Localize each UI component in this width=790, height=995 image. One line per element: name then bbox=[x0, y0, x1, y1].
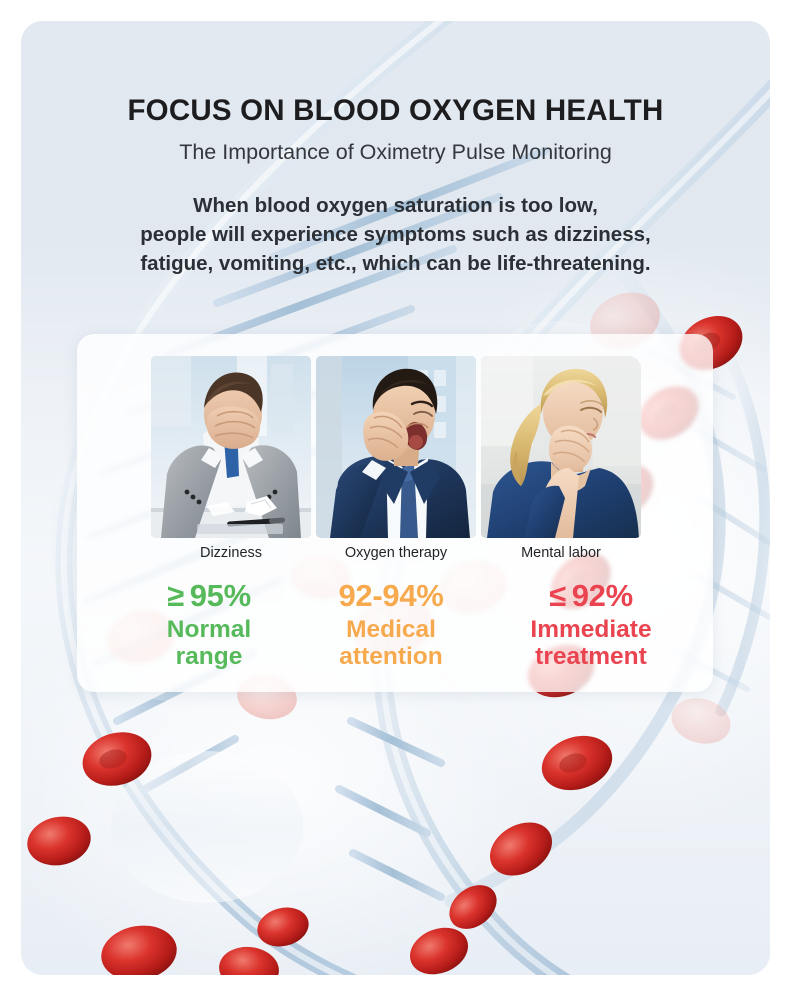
stat-normal-label-line2: range bbox=[115, 643, 303, 670]
poster-panel: FOCUS ON BLOOD OXYGEN HEALTH The Importa… bbox=[21, 21, 770, 975]
page-title: FOCUS ON BLOOD OXYGEN HEALTH bbox=[21, 94, 770, 127]
stat-normal-value: ≥ 95% bbox=[115, 579, 303, 614]
lead-paragraph: When blood oxygen saturation is too low,… bbox=[21, 191, 770, 278]
stat-normal-label-line1: Normal bbox=[115, 616, 303, 643]
stat-medical-label-line2: attention bbox=[297, 643, 485, 670]
stat-medical-label-line1: Medical bbox=[297, 616, 485, 643]
stat-immediate-value: ≤ 92% bbox=[497, 579, 685, 614]
photo-dizziness bbox=[151, 356, 311, 538]
caption-oxygen-therapy: Oxygen therapy bbox=[316, 544, 476, 563]
stat-immediate-label-line1: Immediate bbox=[497, 616, 685, 643]
info-card: Dizziness Oxygen therapy Mental labor ≥ … bbox=[77, 334, 713, 692]
woman-hand-to-mouth-photo bbox=[481, 356, 641, 538]
stat-normal-range: ≥ 95% Normal range bbox=[115, 579, 303, 671]
poster-page: FOCUS ON BLOOD OXYGEN HEALTH The Importa… bbox=[0, 0, 790, 995]
photo-oxygen-therapy bbox=[316, 356, 476, 538]
man-head-in-hands-photo bbox=[151, 356, 311, 538]
lead-line-2: people will experience symptoms such as … bbox=[21, 220, 770, 249]
stat-immediate-label-line2: treatment bbox=[497, 643, 685, 670]
stat-medical-label: Medical attention bbox=[297, 616, 485, 671]
lead-line-1: When blood oxygen saturation is too low, bbox=[21, 191, 770, 220]
stat-immediate-label: Immediate treatment bbox=[497, 616, 685, 671]
photo-row bbox=[151, 356, 641, 538]
man-yawning-photo bbox=[316, 356, 476, 538]
header-block: FOCUS ON BLOOD OXYGEN HEALTH The Importa… bbox=[21, 21, 770, 278]
page-subtitle: The Importance of Oximetry Pulse Monitor… bbox=[21, 140, 770, 166]
lead-line-3: fatigue, vomiting, etc., which can be li… bbox=[21, 249, 770, 278]
saturation-stats: ≥ 95% Normal range 92-94% Medical attent… bbox=[105, 579, 685, 671]
stat-medical-attention: 92-94% Medical attention bbox=[297, 579, 485, 671]
stat-medical-value: 92-94% bbox=[297, 579, 485, 614]
caption-dizziness: Dizziness bbox=[151, 544, 311, 563]
stat-immediate-treatment: ≤ 92% Immediate treatment bbox=[497, 579, 685, 671]
caption-mental-labor: Mental labor bbox=[481, 544, 641, 563]
photo-mental-labor bbox=[481, 356, 641, 538]
stat-normal-label: Normal range bbox=[115, 616, 303, 671]
photo-captions: Dizziness Oxygen therapy Mental labor bbox=[151, 544, 641, 563]
